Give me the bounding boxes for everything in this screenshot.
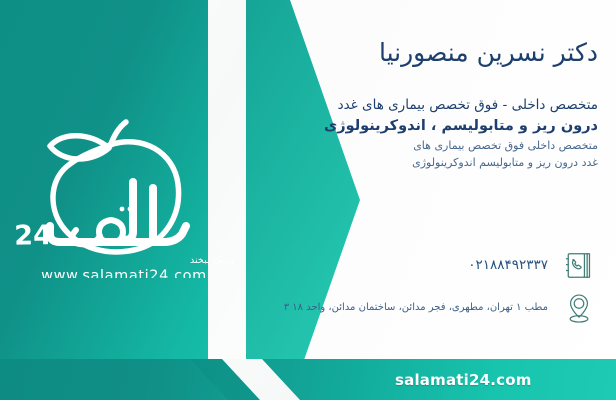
footer-website-wrap: salamati24.com [0, 359, 616, 400]
svg-text:24: 24 [14, 220, 52, 252]
svg-text:www.salamati24.com: www.salamati24.com [41, 268, 207, 278]
specialty-line-3: متخصص داخلی فوق تخصص بیماری های [238, 137, 598, 155]
phonebook-icon [560, 245, 598, 285]
doctor-profile-card: 24 به راحتی یک لبخند www.salamati24.com … [0, 0, 616, 400]
specialty-line-4: غدد درون ریز و متابولیسم اندوکرینولوژی [238, 154, 598, 172]
logo-24-badge: 24 [14, 220, 52, 252]
phone-contact-row[interactable]: ۰۲۱۸۸۴۹۲۳۳۷ [468, 245, 598, 285]
clinic-address: مطب ۱ تهران، مطهری، فجر مدائن، ساختمان م… [284, 301, 548, 315]
address-contact-row[interactable]: مطب ۱ تهران، مطهری، فجر مدائن، ساختمان م… [284, 288, 598, 328]
doctor-name: دکتر نسرین منصورنیا [238, 38, 598, 68]
map-pin-icon [560, 288, 598, 328]
svg-text:به راحتی یک لبخند: به راحتی یک لبخند [190, 255, 234, 266]
salamati24-logo: 24 به راحتی یک لبخند www.salamati24.com [14, 108, 234, 278]
specialty-line-1: متخصص داخلی - فوق تخصص بیماری های غدد [238, 96, 598, 116]
card-content: دکتر نسرین منصورنیا متخصص داخلی - فوق تخ… [238, 0, 598, 400]
doctor-specialty-block: متخصص داخلی - فوق تخصص بیماری های غدد در… [238, 96, 598, 172]
footer-website[interactable]: salamati24.com [395, 371, 532, 389]
specialty-line-2: درون ریز و متابولیسم ، اندوکرینولوژی [238, 116, 598, 137]
phone-number: ۰۲۱۸۸۴۹۲۳۳۷ [468, 257, 548, 273]
